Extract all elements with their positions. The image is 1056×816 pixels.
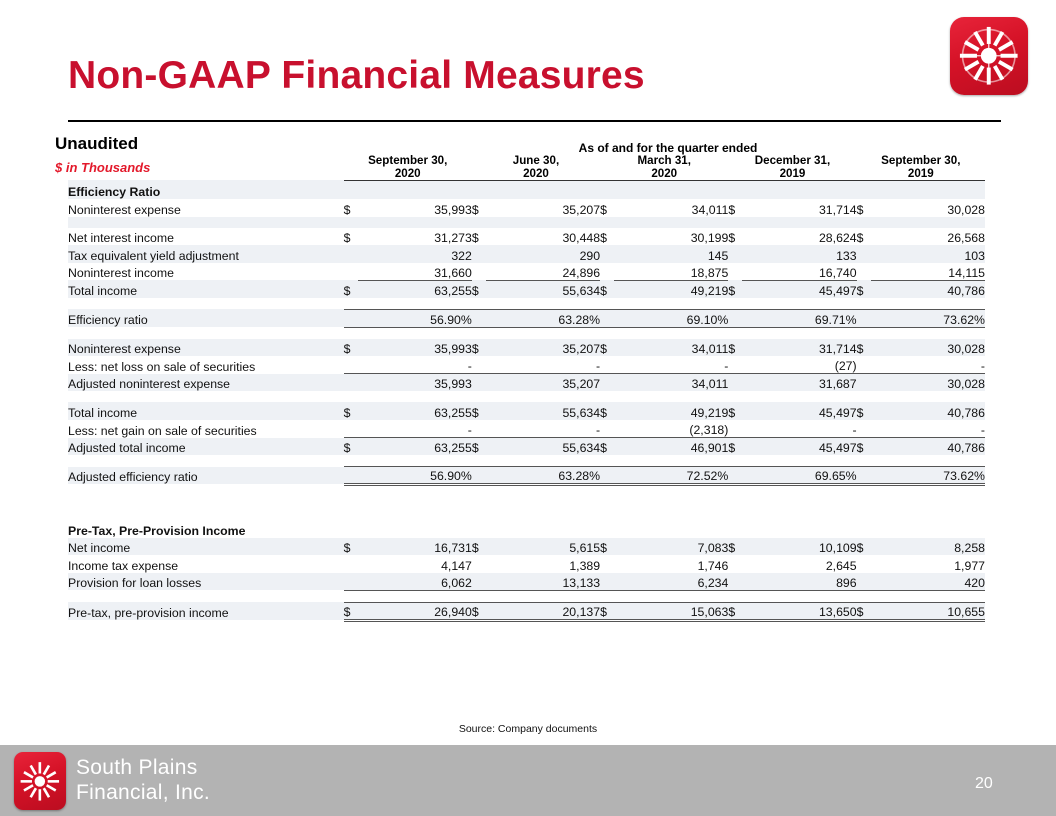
cell-value: 55,634 <box>486 438 600 456</box>
currency-symbol: $ <box>344 602 358 620</box>
company-name: South Plains Financial, Inc. <box>76 756 210 806</box>
row-label: Less: net loss on sale of securities <box>68 356 344 374</box>
cell-value: 31,660 <box>358 263 472 281</box>
currency-spacer <box>728 309 742 327</box>
cell-value: 20,137 <box>486 602 600 620</box>
currency-symbol: $ <box>857 402 871 420</box>
cell-value: 420 <box>871 573 985 591</box>
cell-value: 28,624 <box>742 228 856 246</box>
currency-symbol: $ <box>857 228 871 246</box>
cell-value: 5,615 <box>486 538 600 556</box>
cell-value: 30,199 <box>614 228 728 246</box>
table-row: Adjusted noninterest expense 35,993 35,2… <box>68 374 985 392</box>
currency-spacer <box>728 356 742 374</box>
table-row: Noninterest expense $ 35,993 $ 35,207 $ … <box>68 339 985 357</box>
cell-value: 35,993 <box>358 339 472 357</box>
currency-spacer <box>472 309 486 327</box>
table-row: Efficiency ratio 56.90% 63.28% 69.10% 69… <box>68 309 985 327</box>
cell-value: 10,109 <box>742 538 856 556</box>
cell-value: 40,786 <box>871 438 985 456</box>
cell-value: 55,634 <box>486 402 600 420</box>
cell-value: 35,207 <box>486 339 600 357</box>
company-logo-footer <box>14 752 66 810</box>
currency-spacer <box>472 263 486 281</box>
cell-value: - <box>358 356 472 374</box>
spacer-row <box>68 217 985 228</box>
row-label: Tax equivalent yield adjustment <box>68 245 344 263</box>
cell-value: 290 <box>486 245 600 263</box>
currency-symbol: $ <box>344 339 358 357</box>
cell-value: 31,714 <box>742 199 856 217</box>
cell-value: 55,634 <box>486 280 600 298</box>
page-title: Non-GAAP Financial Measures <box>68 54 645 98</box>
currency-symbol: $ <box>600 199 614 217</box>
currency-spacer <box>857 356 871 374</box>
cell-value: 8,258 <box>871 538 985 556</box>
cell-value: 31,273 <box>358 228 472 246</box>
currency-symbol: $ <box>600 402 614 420</box>
cell-value: 30,028 <box>871 199 985 217</box>
table-row: Noninterest expense $ 35,993 $ 35,207 $ … <box>68 199 985 217</box>
table-row: Less: net loss on sale of securities - -… <box>68 356 985 374</box>
cell-value: 63.28% <box>486 309 600 327</box>
cell-value: 56.90% <box>358 309 472 327</box>
cell-value: 63,255 <box>358 280 472 298</box>
section-heading: Pre-Tax, Pre-Provision Income <box>68 520 985 538</box>
cell-value: 1,389 <box>486 555 600 573</box>
windmill-icon <box>950 17 1028 95</box>
currency-spacer <box>344 263 358 281</box>
cell-value: 46,901 <box>614 438 728 456</box>
cell-value: 30,448 <box>486 228 600 246</box>
cell-value: 1,977 <box>871 555 985 573</box>
title-divider <box>68 120 1001 122</box>
currency-symbol: $ <box>344 402 358 420</box>
currency-spacer <box>857 263 871 281</box>
table-row: Noninterest income 31,660 24,896 18,875 … <box>68 263 985 281</box>
cell-value: 24,896 <box>486 263 600 281</box>
currency-spacer <box>857 245 871 263</box>
currency-spacer <box>344 374 358 392</box>
table-row: Tax equivalent yield adjustment 322 290 … <box>68 245 985 263</box>
cell-value: - <box>871 420 985 438</box>
currency-spacer <box>344 309 358 327</box>
currency-spacer <box>472 420 486 438</box>
spacer-row <box>68 590 985 602</box>
section-heading-row: Efficiency Ratio <box>68 180 985 199</box>
currency-symbol: $ <box>728 438 742 456</box>
currency-symbol: $ <box>728 228 742 246</box>
row-label: Total income <box>68 280 344 298</box>
cell-value: - <box>358 420 472 438</box>
row-label: Adjusted total income <box>68 438 344 456</box>
currency-spacer <box>600 467 614 485</box>
currency-spacer <box>600 420 614 438</box>
column-header-2: March 31, 2020 <box>600 154 728 180</box>
row-label: Total income <box>68 402 344 420</box>
header-label-col <box>68 154 344 180</box>
cell-value: 45,497 <box>742 280 856 298</box>
row-label: Provision for loan losses <box>68 573 344 591</box>
cell-value: 35,207 <box>486 374 600 392</box>
cell-value: 34,011 <box>614 374 728 392</box>
currency-spacer <box>344 573 358 591</box>
currency-symbol: $ <box>728 339 742 357</box>
column-header-month: December 31, <box>755 154 830 167</box>
cell-value: 16,740 <box>742 263 856 281</box>
currency-spacer <box>472 555 486 573</box>
spacer-row <box>68 298 985 310</box>
currency-spacer <box>344 420 358 438</box>
cell-value: 63,255 <box>358 438 472 456</box>
cell-value: 34,011 <box>614 339 728 357</box>
currency-spacer <box>600 374 614 392</box>
cell-value: 73.62% <box>871 467 985 485</box>
cell-value: - <box>871 356 985 374</box>
spacer-row <box>68 391 985 402</box>
currency-spacer <box>728 467 742 485</box>
cell-value: 73.62% <box>871 309 985 327</box>
cell-value: 6,234 <box>614 573 728 591</box>
currency-spacer <box>728 245 742 263</box>
company-name-line2: Financial, Inc. <box>76 781 210 806</box>
currency-symbol: $ <box>472 228 486 246</box>
currency-symbol: $ <box>344 280 358 298</box>
currency-symbol: $ <box>728 538 742 556</box>
cell-value: 26,568 <box>871 228 985 246</box>
table-row: Total income $ 63,255 $ 55,634 $ 49,219 … <box>68 280 985 298</box>
currency-symbol: $ <box>472 339 486 357</box>
company-name-line1: South Plains <box>76 756 210 781</box>
currency-symbol: $ <box>472 602 486 620</box>
cell-value: 49,219 <box>614 402 728 420</box>
row-label: Noninterest expense <box>68 199 344 217</box>
non-gaap-table: September 30, 2020 June 30, 2020 March 3… <box>68 154 985 622</box>
currency-symbol: $ <box>857 199 871 217</box>
section-heading-row: Pre-Tax, Pre-Provision Income <box>68 520 985 538</box>
table-row: Less: net gain on sale of securities - -… <box>68 420 985 438</box>
table-row: Income tax expense 4,147 1,389 1,746 2,6… <box>68 555 985 573</box>
currency-symbol: $ <box>472 438 486 456</box>
currency-symbol: $ <box>728 402 742 420</box>
currency-symbol: $ <box>472 402 486 420</box>
currency-spacer <box>728 573 742 591</box>
cell-value: 7,083 <box>614 538 728 556</box>
currency-symbol: $ <box>857 339 871 357</box>
row-label: Net income <box>68 538 344 556</box>
currency-spacer <box>857 309 871 327</box>
cell-value: 40,786 <box>871 402 985 420</box>
column-header-year: 2019 <box>908 167 934 180</box>
windmill-icon <box>14 752 66 810</box>
cell-value: 2,645 <box>742 555 856 573</box>
cell-value: 69.10% <box>614 309 728 327</box>
currency-symbol: $ <box>344 438 358 456</box>
row-label: Efficiency ratio <box>68 309 344 327</box>
table-header-row: September 30, 2020 June 30, 2020 March 3… <box>68 154 985 180</box>
cell-value: 35,993 <box>358 374 472 392</box>
currency-symbol: $ <box>600 280 614 298</box>
cell-value: 6,062 <box>358 573 472 591</box>
row-label: Pre-tax, pre-provision income <box>68 602 344 620</box>
cell-value: 31,714 <box>742 339 856 357</box>
unaudited-label: Unaudited <box>55 134 138 154</box>
table-row: Adjusted total income $ 63,255 $ 55,634 … <box>68 438 985 456</box>
row-label: Adjusted noninterest expense <box>68 374 344 392</box>
cell-value: (27) <box>742 356 856 374</box>
table-row: Total income $ 63,255 $ 55,634 $ 49,219 … <box>68 402 985 420</box>
row-label: Income tax expense <box>68 555 344 573</box>
section-heading: Efficiency Ratio <box>68 180 985 199</box>
currency-spacer <box>728 374 742 392</box>
currency-spacer <box>728 420 742 438</box>
currency-symbol: $ <box>472 199 486 217</box>
currency-spacer <box>857 555 871 573</box>
currency-spacer <box>728 555 742 573</box>
cell-value: 896 <box>742 573 856 591</box>
spacer-row <box>68 455 985 467</box>
cell-value: 13,650 <box>742 602 856 620</box>
cell-value: 18,875 <box>614 263 728 281</box>
column-header-3: December 31, 2019 <box>728 154 856 180</box>
table-row: Net income $ 16,731 $ 5,615 $ 7,083 $ 10… <box>68 538 985 556</box>
cell-value: 40,786 <box>871 280 985 298</box>
currency-spacer <box>600 309 614 327</box>
cell-value: 31,687 <box>742 374 856 392</box>
cell-value: 1,746 <box>614 555 728 573</box>
cell-value: - <box>614 356 728 374</box>
cell-value: 69.71% <box>742 309 856 327</box>
period-header: As of and for the quarter ended <box>443 141 893 155</box>
currency-spacer <box>472 245 486 263</box>
currency-spacer <box>344 555 358 573</box>
table-row: Pre-tax, pre-provision income $ 26,940 $… <box>68 602 985 620</box>
column-header-year: 2020 <box>395 167 421 180</box>
currency-spacer <box>600 356 614 374</box>
cell-value: 35,993 <box>358 199 472 217</box>
cell-value: 49,219 <box>614 280 728 298</box>
column-header-year: 2020 <box>523 167 549 180</box>
currency-spacer <box>344 356 358 374</box>
table-row: Provision for loan losses 6,062 13,133 6… <box>68 573 985 591</box>
currency-spacer <box>344 467 358 485</box>
cell-value: 133 <box>742 245 856 263</box>
row-label: Net interest income <box>68 228 344 246</box>
column-header-1: June 30, 2020 <box>472 154 600 180</box>
cell-value: 103 <box>871 245 985 263</box>
cell-value: 56.90% <box>358 467 472 485</box>
currency-spacer <box>600 245 614 263</box>
spacer-row <box>68 327 985 339</box>
column-header-month: September 30, <box>368 154 447 167</box>
currency-symbol: $ <box>344 199 358 217</box>
cell-value: 34,011 <box>614 199 728 217</box>
table-row: Net interest income $ 31,273 $ 30,448 $ … <box>68 228 985 246</box>
source-note: Source: Company documents <box>0 723 1056 735</box>
currency-spacer <box>728 263 742 281</box>
spacer-row <box>68 484 985 520</box>
currency-spacer <box>600 263 614 281</box>
cell-value: 15,063 <box>614 602 728 620</box>
cell-value: 45,497 <box>742 438 856 456</box>
currency-symbol: $ <box>472 280 486 298</box>
currency-spacer <box>857 374 871 392</box>
column-header-month: March 31, <box>637 154 691 167</box>
currency-spacer <box>857 420 871 438</box>
cell-value: - <box>742 420 856 438</box>
row-label: Noninterest expense <box>68 339 344 357</box>
currency-spacer <box>472 573 486 591</box>
column-header-year: 2020 <box>651 167 677 180</box>
page-number: 20 <box>975 775 993 793</box>
currency-symbol: $ <box>857 538 871 556</box>
column-header-month: September 30, <box>881 154 960 167</box>
currency-symbol: $ <box>344 228 358 246</box>
cell-value: 14,115 <box>871 263 985 281</box>
cell-value: 322 <box>358 245 472 263</box>
currency-spacer <box>472 467 486 485</box>
row-label: Less: net gain on sale of securities <box>68 420 344 438</box>
cell-value: 63,255 <box>358 402 472 420</box>
company-logo-top-right <box>950 17 1028 95</box>
currency-symbol: $ <box>600 538 614 556</box>
cell-value: 145 <box>614 245 728 263</box>
cell-value: 63.28% <box>486 467 600 485</box>
currency-symbol: $ <box>857 602 871 620</box>
currency-symbol: $ <box>600 438 614 456</box>
cell-value: - <box>486 420 600 438</box>
cell-value: 35,207 <box>486 199 600 217</box>
slide: Non-GAAP Financial Measures Unaudited $ … <box>0 0 1056 816</box>
cell-value: 72.52% <box>614 467 728 485</box>
column-header-4: September 30, 2019 <box>857 154 985 180</box>
currency-spacer <box>472 374 486 392</box>
currency-spacer <box>600 573 614 591</box>
currency-symbol: $ <box>600 339 614 357</box>
cell-value: 69.65% <box>742 467 856 485</box>
cell-value: 10,655 <box>871 602 985 620</box>
cell-value: - <box>486 356 600 374</box>
cell-value: 30,028 <box>871 374 985 392</box>
currency-symbol: $ <box>728 602 742 620</box>
column-header-0: September 30, 2020 <box>344 154 472 180</box>
currency-symbol: $ <box>857 280 871 298</box>
currency-symbol: $ <box>857 438 871 456</box>
cell-value: 45,497 <box>742 402 856 420</box>
currency-symbol: $ <box>600 602 614 620</box>
currency-spacer <box>344 245 358 263</box>
cell-value: 4,147 <box>358 555 472 573</box>
currency-spacer <box>857 467 871 485</box>
currency-spacer <box>857 573 871 591</box>
currency-symbol: $ <box>344 538 358 556</box>
cell-value: (2,318) <box>614 420 728 438</box>
column-header-month: June 30, <box>513 154 559 167</box>
cell-value: 16,731 <box>358 538 472 556</box>
row-label: Adjusted efficiency ratio <box>68 467 344 485</box>
currency-spacer <box>472 356 486 374</box>
currency-symbol: $ <box>728 280 742 298</box>
currency-symbol: $ <box>600 228 614 246</box>
column-header-year: 2019 <box>780 167 806 180</box>
currency-spacer <box>600 555 614 573</box>
cell-value: 26,940 <box>358 602 472 620</box>
table-row: Adjusted efficiency ratio 56.90% 63.28% … <box>68 467 985 485</box>
cell-value: 30,028 <box>871 339 985 357</box>
currency-symbol: $ <box>728 199 742 217</box>
cell-value: 13,133 <box>486 573 600 591</box>
row-label: Noninterest income <box>68 263 344 281</box>
currency-symbol: $ <box>472 538 486 556</box>
